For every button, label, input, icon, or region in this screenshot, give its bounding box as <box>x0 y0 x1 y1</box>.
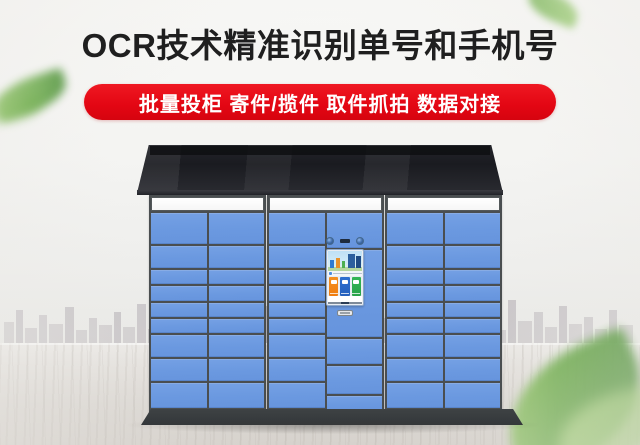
locker-door[interactable] <box>445 359 501 381</box>
locker-door[interactable] <box>151 359 207 381</box>
camera-lens-right-icon <box>356 237 364 245</box>
locker-door[interactable] <box>445 335 501 357</box>
locker-door[interactable] <box>151 303 207 317</box>
kiosk-promo-banner <box>328 251 362 271</box>
locker-door[interactable] <box>151 335 207 357</box>
locker-door[interactable] <box>269 335 325 357</box>
locker-door[interactable] <box>209 286 265 300</box>
locker-door[interactable] <box>387 213 443 244</box>
feature-badge-label: 批量投柜 寄件/揽件 取件抓拍 数据对接 <box>84 84 556 120</box>
locker-signage-panel <box>269 197 382 211</box>
locker-door[interactable] <box>151 246 207 268</box>
camera-lens-left-icon <box>326 237 334 245</box>
kiosk-notice-ticker <box>328 271 362 276</box>
scanner-bar-icon <box>340 239 350 243</box>
locker-door[interactable] <box>327 396 383 411</box>
locker-floor-shadow <box>128 420 538 434</box>
locker-door[interactable] <box>209 270 265 284</box>
kiosk-card-slot[interactable] <box>337 310 353 316</box>
locker-canopy-underside <box>150 146 490 155</box>
locker-door[interactable] <box>269 270 325 284</box>
kiosk-button-pickup[interactable] <box>340 277 349 296</box>
locker-door[interactable] <box>387 383 443 408</box>
locker-door[interactable] <box>209 359 265 381</box>
kiosk-screen-bottom-strip <box>328 302 362 304</box>
locker-door[interactable] <box>387 286 443 300</box>
locker-door-column <box>209 213 265 411</box>
locker-door[interactable] <box>269 383 325 408</box>
locker-door[interactable] <box>209 246 265 268</box>
locker-section-right <box>385 195 502 413</box>
locker-door[interactable] <box>151 319 207 333</box>
locker-door[interactable] <box>387 246 443 268</box>
locker-door-column <box>151 213 207 411</box>
smart-parcel-locker <box>0 0 640 445</box>
locker-door[interactable] <box>151 286 207 300</box>
kiosk-action-buttons <box>329 277 361 296</box>
locker-door[interactable] <box>445 270 501 284</box>
locker-door[interactable] <box>445 303 501 317</box>
locker-door[interactable] <box>209 303 265 317</box>
kiosk-button-send[interactable] <box>352 277 361 296</box>
locker-door[interactable] <box>387 270 443 284</box>
feature-badge: 批量投柜 寄件/揽件 取件抓拍 数据对接 <box>84 84 556 120</box>
page-title: OCR技术精准识别单号和手机号 <box>0 26 640 66</box>
locker-door[interactable] <box>209 335 265 357</box>
locker-door[interactable] <box>209 383 265 408</box>
locker-door[interactable] <box>209 319 265 333</box>
locker-door[interactable] <box>387 303 443 317</box>
kiosk-button-deposit[interactable] <box>329 277 338 296</box>
locker-door[interactable] <box>327 339 383 364</box>
locker-door[interactable] <box>445 213 501 244</box>
locker-door[interactable] <box>387 335 443 357</box>
locker-door[interactable] <box>269 319 325 333</box>
locker-door[interactable] <box>445 319 501 333</box>
locker-door[interactable] <box>445 383 501 408</box>
locker-signage-panel <box>151 197 264 211</box>
locker-door[interactable] <box>269 286 325 300</box>
locker-door[interactable] <box>327 366 383 394</box>
locker-door[interactable] <box>445 246 501 268</box>
locker-door[interactable] <box>269 303 325 317</box>
locker-door[interactable] <box>445 286 501 300</box>
locker-door-column <box>269 213 325 411</box>
locker-door[interactable] <box>269 246 325 268</box>
locker-door-column <box>387 213 443 411</box>
locker-door-column <box>445 213 501 411</box>
locker-door[interactable] <box>269 213 325 244</box>
locker-door[interactable] <box>209 213 265 244</box>
locker-door[interactable] <box>151 383 207 408</box>
locker-door[interactable] <box>269 359 325 381</box>
kiosk-touchscreen[interactable] <box>326 249 364 306</box>
kiosk-sensor-array <box>326 236 364 246</box>
locker-door[interactable] <box>151 213 207 244</box>
locker-door[interactable] <box>387 359 443 381</box>
locker-signage-panel <box>387 197 500 211</box>
locker-section-left <box>149 195 266 413</box>
locker-door[interactable] <box>151 270 207 284</box>
poster-canvas: OCR技术精准识别单号和手机号 批量投柜 寄件/揽件 取件抓拍 数据对接 <box>0 0 640 445</box>
locker-door[interactable] <box>387 319 443 333</box>
